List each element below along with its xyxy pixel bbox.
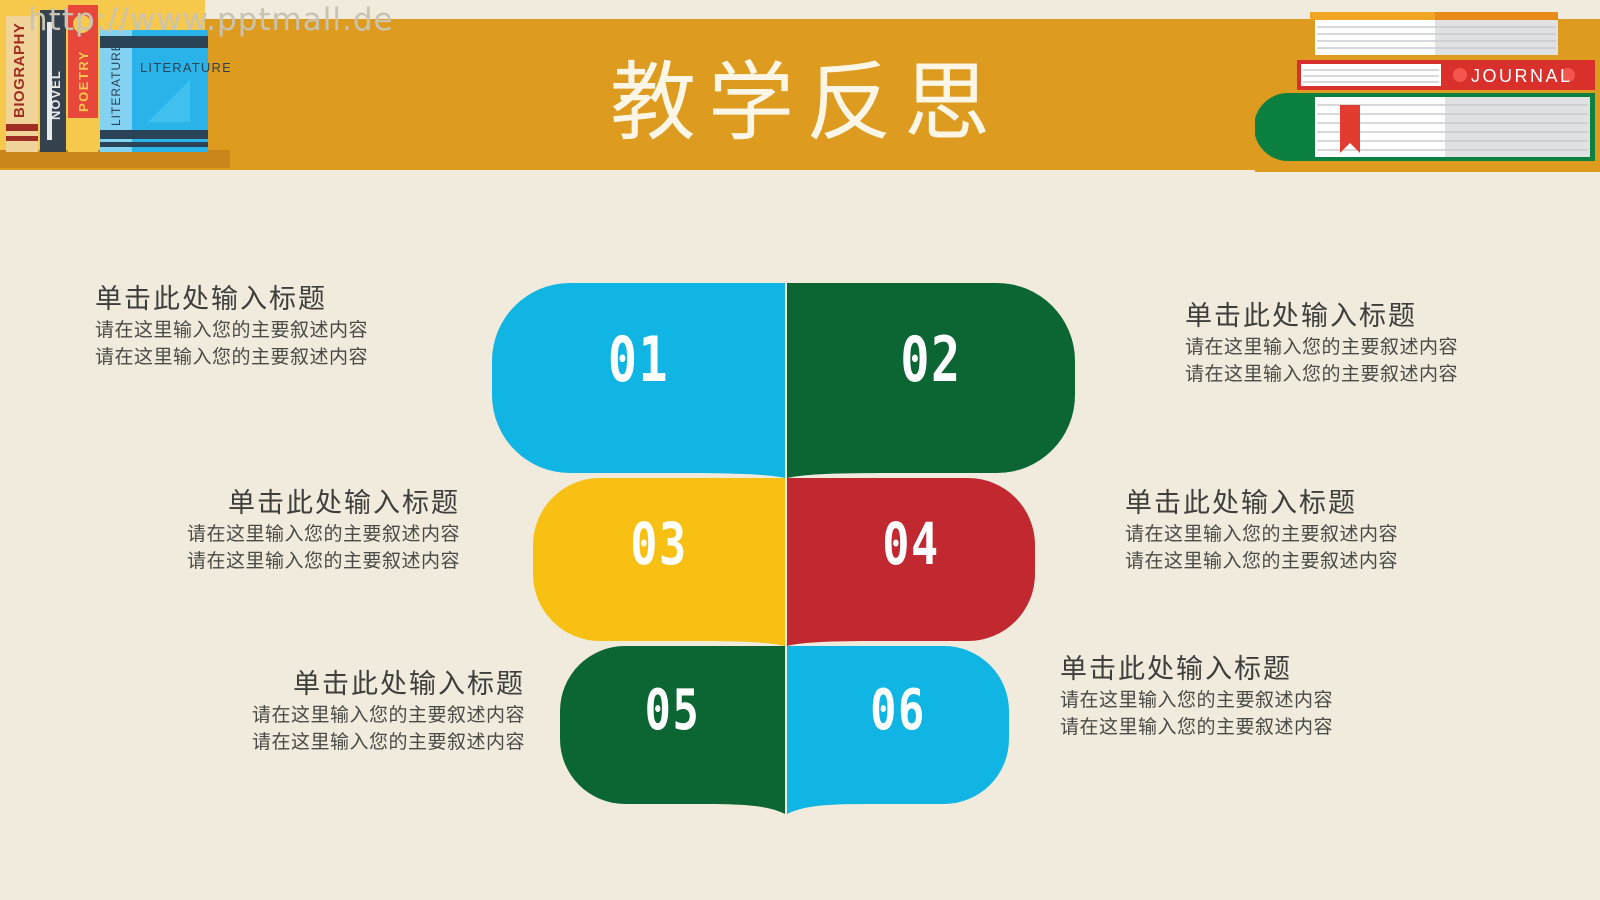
- item-line1-05: 请在这里输入您的主要叙述内容: [225, 702, 525, 729]
- svg-text:NOVEL: NOVEL: [48, 70, 63, 120]
- bubble-03-number: 03: [561, 478, 758, 610]
- item-line2-06: 请在这里输入您的主要叙述内容: [1060, 714, 1360, 741]
- item-line2-02: 请在这里输入您的主要叙述内容: [1185, 361, 1485, 388]
- item-line2-01: 请在这里输入您的主要叙述内容: [95, 344, 395, 371]
- bubble-02-number: 02: [819, 283, 1044, 435]
- item-text-04: 单击此处输入标题 请在这里输入您的主要叙述内容 请在这里输入您的主要叙述内容: [1125, 487, 1425, 575]
- svg-text:LITERATURE: LITERATURE: [109, 42, 123, 126]
- item-title-05: 单击此处输入标题: [225, 668, 525, 702]
- item-title-06: 单击此处输入标题: [1060, 653, 1360, 687]
- bubble-01-number: 01: [524, 283, 753, 435]
- bubble-06-number: 06: [811, 646, 984, 774]
- item-title-03: 单击此处输入标题: [160, 487, 460, 521]
- svg-text:LITERATURE: LITERATURE: [140, 60, 230, 75]
- item-line2-03: 请在这里输入您的主要叙述内容: [160, 548, 460, 575]
- item-title-04: 单击此处输入标题: [1125, 487, 1425, 521]
- bubble-01[interactable]: 01: [492, 283, 785, 478]
- book-stack-left-icon: BIOGRAPHY NOVEL POETRY LITERATURE LITERA…: [0, 0, 230, 168]
- bubble-05-number: 05: [585, 646, 761, 774]
- item-text-02: 单击此处输入标题 请在这里输入您的主要叙述内容 请在这里输入您的主要叙述内容: [1185, 300, 1485, 388]
- svg-text:BIOGRAPHY: BIOGRAPHY: [11, 23, 28, 118]
- item-line1-02: 请在这里输入您的主要叙述内容: [1185, 334, 1485, 361]
- svg-text:POETRY: POETRY: [76, 50, 91, 112]
- item-text-05: 单击此处输入标题 请在这里输入您的主要叙述内容 请在这里输入您的主要叙述内容: [225, 668, 525, 756]
- item-line1-06: 请在这里输入您的主要叙述内容: [1060, 687, 1360, 714]
- bubble-02[interactable]: 02: [787, 283, 1075, 478]
- item-line2-04: 请在这里输入您的主要叙述内容: [1125, 548, 1425, 575]
- item-title-01: 单击此处输入标题: [95, 283, 395, 317]
- item-line1-01: 请在这里输入您的主要叙述内容: [95, 317, 395, 344]
- book-stack-right-icon: JOURNAL: [1255, 0, 1600, 172]
- bubble-05[interactable]: 05: [560, 646, 785, 814]
- item-text-03: 单击此处输入标题 请在这里输入您的主要叙述内容 请在这里输入您的主要叙述内容: [160, 487, 460, 575]
- item-text-06: 单击此处输入标题 请在这里输入您的主要叙述内容 请在这里输入您的主要叙述内容: [1060, 653, 1360, 741]
- bubble-03[interactable]: 03: [533, 478, 785, 646]
- item-line2-05: 请在这里输入您的主要叙述内容: [225, 729, 525, 756]
- bubble-06[interactable]: 06: [787, 646, 1009, 814]
- item-title-02: 单击此处输入标题: [1185, 300, 1485, 334]
- bubble-04[interactable]: 04: [787, 478, 1035, 646]
- bubble-04-number: 04: [814, 478, 1007, 610]
- svg-text:JOURNAL: JOURNAL: [1471, 66, 1573, 86]
- item-line1-03: 请在这里输入您的主要叙述内容: [160, 521, 460, 548]
- item-line1-04: 请在这里输入您的主要叙述内容: [1125, 521, 1425, 548]
- item-text-01: 单击此处输入标题 请在这里输入您的主要叙述内容 请在这里输入您的主要叙述内容: [95, 283, 395, 371]
